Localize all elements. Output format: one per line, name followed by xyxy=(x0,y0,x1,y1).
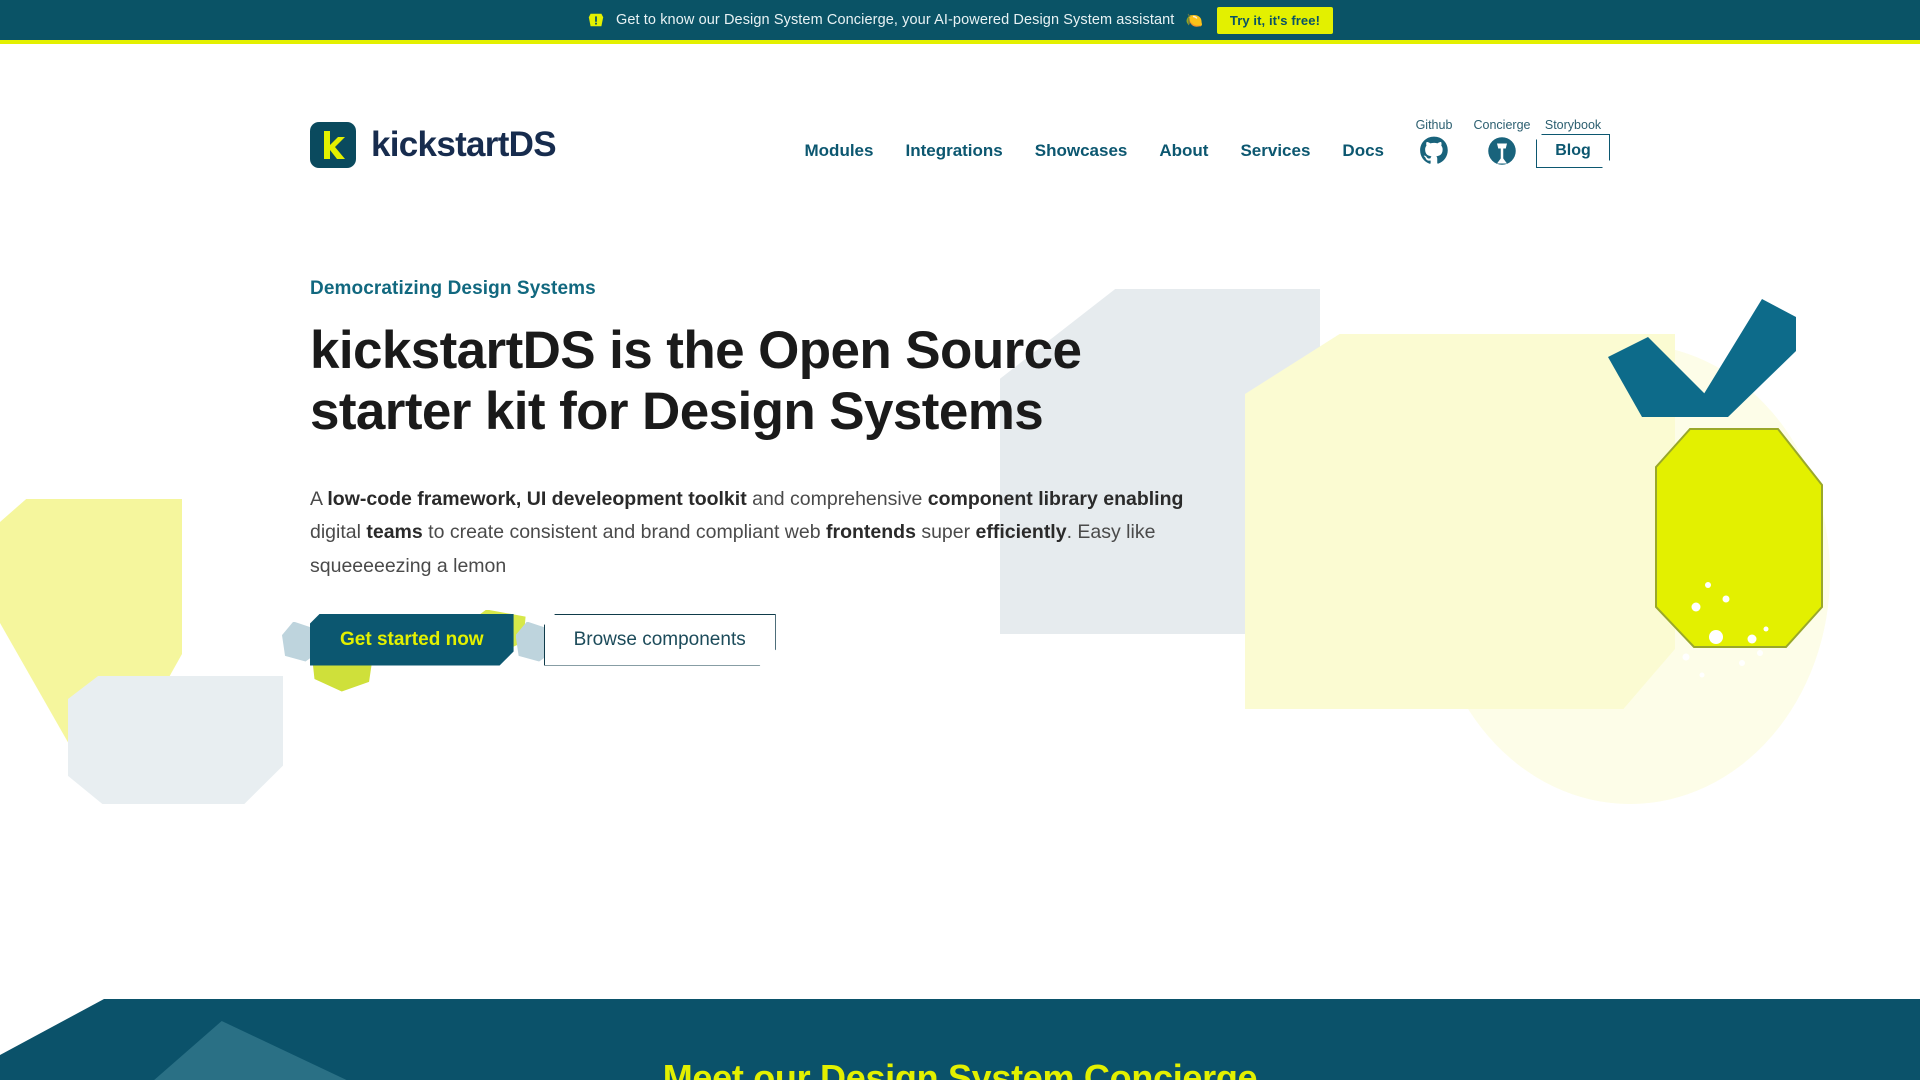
announcement-banner: Get to know our Design System Concierge,… xyxy=(0,0,1920,44)
nav-item-docs[interactable]: Docs xyxy=(1326,141,1400,161)
nav-item-integrations[interactable]: Integrations xyxy=(889,141,1018,161)
nav-item-services[interactable]: Services xyxy=(1224,141,1326,161)
hero-headline: kickstartDS is the Open Source starter k… xyxy=(310,320,1140,443)
banner-text: Get to know our Design System Concierge,… xyxy=(616,12,1174,28)
hero-cta-row: Get started now Browse components xyxy=(310,614,1610,666)
utility-label-concierge[interactable]: Concierge xyxy=(1468,118,1536,132)
try-it-free-button[interactable]: Try it, it's free! xyxy=(1217,7,1333,34)
hero-eyebrow: Democratizing Design Systems xyxy=(310,278,1610,300)
browse-components-button[interactable]: Browse components xyxy=(544,614,776,666)
lemon-illustration xyxy=(1590,289,1840,709)
logo-mark-icon xyxy=(310,122,356,168)
utility-label-storybook[interactable]: Storybook xyxy=(1536,118,1610,132)
hero-section: kickstartDS Github Concierge Storybook M… xyxy=(0,44,1920,1080)
decorative-polygon-yellow-left xyxy=(0,499,182,749)
site-header: kickstartDS Github Concierge Storybook M… xyxy=(310,44,1610,168)
blog-button[interactable]: Blog xyxy=(1536,134,1610,168)
secondary-cta-wrap: Browse components xyxy=(544,614,776,666)
browse-components-label: Browse components xyxy=(574,629,746,650)
lemon-alert-icon xyxy=(587,11,605,29)
nav-item-modules[interactable]: Modules xyxy=(789,141,890,161)
primary-cta-wrap: Get started now xyxy=(310,614,514,666)
hero-content: Democratizing Design Systems kickstartDS… xyxy=(310,168,1610,666)
logo-wordmark: kickstartDS xyxy=(371,125,556,165)
concierge-title: Meet our Design System Concierge xyxy=(0,1057,1920,1080)
utility-links: Github Concierge Storybook xyxy=(1400,118,1610,132)
hero-lede: A low-code framework, UI develeopment to… xyxy=(310,483,1190,584)
concierge-section: Meet our Design System Concierge xyxy=(0,999,1920,1080)
lemon-emoji-icon: 🍋 xyxy=(1185,13,1202,27)
nav-item-showcases[interactable]: Showcases xyxy=(1019,141,1144,161)
main-navigation: Modules Integrations Showcases About Ser… xyxy=(789,134,1610,168)
concierge-avatar-icon[interactable] xyxy=(1468,136,1536,166)
decorative-polygon-gray-left xyxy=(68,676,283,804)
logo[interactable]: kickstartDS xyxy=(310,122,556,168)
banner-content: Get to know our Design System Concierge,… xyxy=(587,11,1203,29)
nav-item-about[interactable]: About xyxy=(1143,141,1224,161)
nav-area: Github Concierge Storybook Modules Integ… xyxy=(789,118,1610,168)
get-started-button[interactable]: Get started now xyxy=(310,614,514,666)
blog-button-label: Blog xyxy=(1555,142,1591,160)
github-icon[interactable] xyxy=(1400,136,1468,166)
utility-label-github[interactable]: Github xyxy=(1400,118,1468,132)
